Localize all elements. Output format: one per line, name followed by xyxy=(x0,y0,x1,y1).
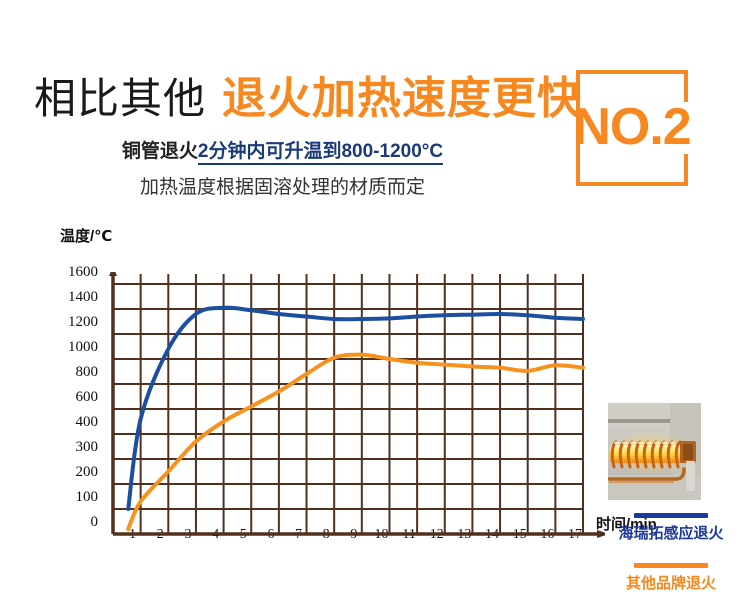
y-axis-title: 温度/℃ xyxy=(60,225,112,246)
y-axis-tick-1200: 1200 xyxy=(40,312,98,332)
legend-item-orange: 其他品牌退火 xyxy=(592,563,750,593)
legend-label-blue: 海瑞拓感应退火 xyxy=(618,525,723,542)
page-headline: 相比其他 退火加热速度更快 xyxy=(34,62,582,126)
subtitle-plain-text: 铜管退火 xyxy=(122,141,198,162)
promo-page: 相比其他 退火加热速度更快 铜管退火2分钟内可升温到800-1200°C 加热温… xyxy=(0,0,750,591)
legend-item-blue: 海瑞拓感应退火 xyxy=(592,513,750,543)
y-axis-tick-600: 600 xyxy=(40,387,98,407)
rank-badge: NO.2 xyxy=(576,70,688,186)
badge-label: NO.2 xyxy=(572,98,692,156)
subtitle-line-2: 加热温度根据固溶处理的材质而定 xyxy=(0,172,565,199)
plot-svg xyxy=(105,272,605,547)
legend-swatch-orange xyxy=(634,563,708,568)
headline-black-text: 相比其他 xyxy=(34,65,206,126)
y-axis-tick-1600: 1600 xyxy=(40,262,98,282)
y-axis-tick-labels: 01002003004006008001000120014001600 xyxy=(40,262,98,532)
y-axis-tick-100: 100 xyxy=(40,487,98,507)
induction-annealing-photo xyxy=(608,403,701,500)
badge-frame-top xyxy=(576,70,688,74)
legend-label-orange: 其他品牌退火 xyxy=(626,575,716,592)
photo-graphic xyxy=(608,403,701,500)
y-axis-arrow xyxy=(109,272,117,276)
y-axis-tick-800: 800 xyxy=(40,362,98,382)
y-axis-tick-1000: 1000 xyxy=(40,337,98,357)
badge-frame-bottom xyxy=(576,182,688,186)
y-axis-tick-200: 200 xyxy=(40,462,98,482)
subtitle-highlight-text: 2分钟内可升温到800-1200°C xyxy=(198,141,443,165)
y-axis-tick-400: 400 xyxy=(40,412,98,432)
y-axis-tick-300: 300 xyxy=(40,437,98,457)
legend-swatch-blue xyxy=(634,513,708,518)
badge-frame-right-bottom xyxy=(684,154,688,186)
plot-area xyxy=(105,272,575,522)
subtitle-line-1: 铜管退火2分钟内可升温到800-1200°C xyxy=(0,136,565,163)
y-axis-tick-1400: 1400 xyxy=(40,287,98,307)
y-axis-tick-0: 0 xyxy=(40,512,98,532)
headline-orange-text: 退火加热速度更快 xyxy=(222,62,582,126)
